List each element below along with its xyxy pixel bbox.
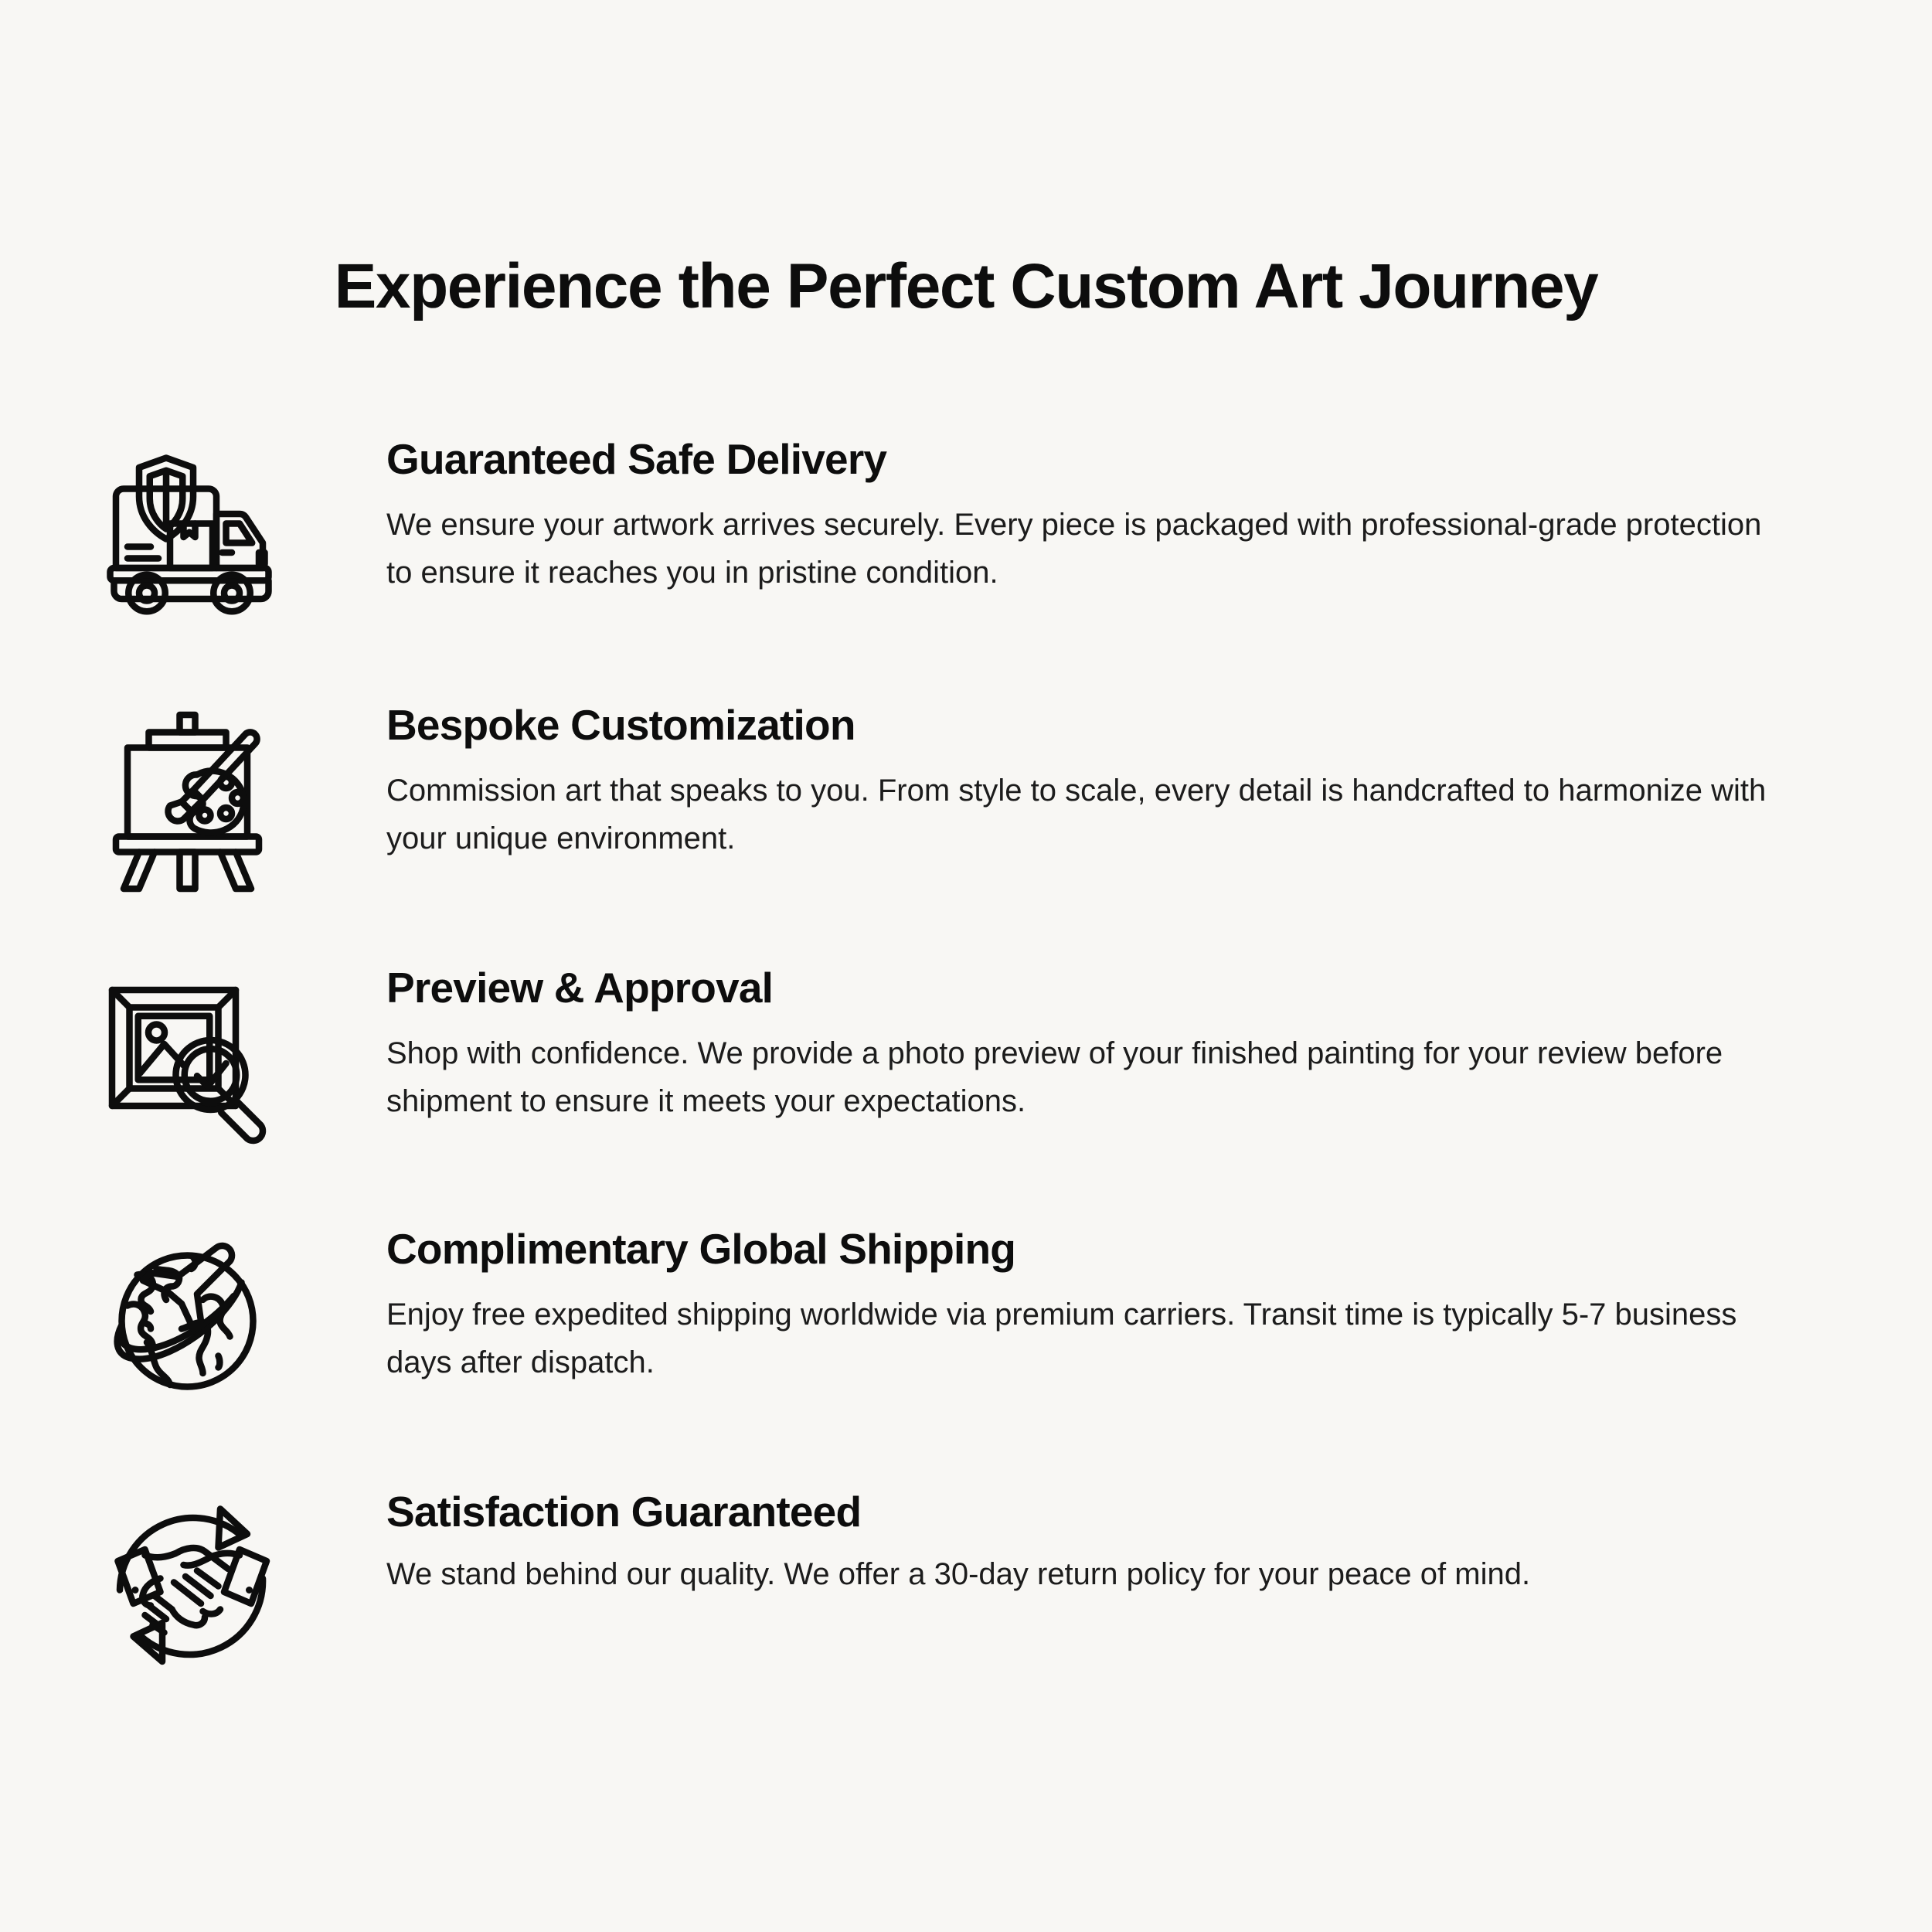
feature-description: Shop with confidence. We provide a photo… [386, 1029, 1785, 1126]
feature-list-page: Experience the Perfect Custom Art Journe… [0, 0, 1932, 1932]
feature-item: Complimentary Global Shipping Enjoy free… [0, 1219, 1932, 1482]
feature-description: We ensure your artwork arrives securely.… [386, 501, 1785, 597]
delivery-truck-shield-icon [97, 433, 290, 626]
feature-item: Guaranteed Safe Delivery We ensure your … [0, 430, 1932, 696]
feature-item: Preview & Approval Shop with confidence.… [0, 958, 1932, 1219]
feature-heading: Satisfaction Guaranteed [386, 1488, 1839, 1536]
feature-text-container: Guaranteed Safe Delivery We ensure your … [386, 430, 1932, 597]
page-title: Experience the Perfect Custom Art Journe… [0, 253, 1932, 321]
feature-icon-container [0, 1482, 386, 1677]
feature-list: Guaranteed Safe Delivery We ensure your … [0, 430, 1932, 1737]
feature-icon-container [0, 430, 386, 626]
feature-text-container: Complimentary Global Shipping Enjoy free… [386, 1219, 1932, 1386]
feature-heading: Complimentary Global Shipping [386, 1226, 1839, 1274]
feature-text-container: Preview & Approval Shop with confidence.… [386, 958, 1932, 1125]
feature-heading: Preview & Approval [386, 964, 1839, 1012]
feature-heading: Bespoke Customization [386, 702, 1839, 750]
framed-picture-magnifier-check-icon [97, 963, 290, 1156]
handshake-refresh-arrows-icon [97, 1484, 290, 1677]
feature-icon-container [0, 696, 386, 896]
globe-airplane-icon [97, 1223, 290, 1416]
easel-palette-brush-icon [97, 703, 290, 896]
feature-description: Commission art that speaks to you. From … [386, 767, 1785, 863]
feature-item: Bespoke Customization Commission art tha… [0, 696, 1932, 958]
feature-text-container: Satisfaction Guaranteed We stand behind … [386, 1482, 1932, 1598]
feature-description: We stand behind our quality. We offer a … [386, 1550, 1785, 1598]
feature-icon-container [0, 1219, 386, 1416]
feature-description: Enjoy free expedited shipping worldwide … [386, 1291, 1785, 1387]
feature-icon-container [0, 958, 386, 1156]
feature-text-container: Bespoke Customization Commission art tha… [386, 696, 1932, 862]
feature-item: Satisfaction Guaranteed We stand behind … [0, 1482, 1932, 1737]
feature-heading: Guaranteed Safe Delivery [386, 436, 1839, 484]
